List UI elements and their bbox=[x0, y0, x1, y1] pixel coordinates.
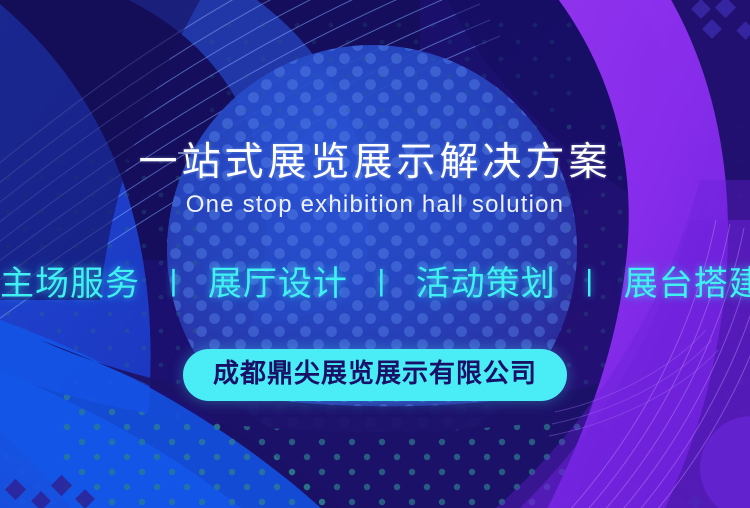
service-separator-3: 丨 bbox=[566, 259, 613, 303]
service-separator-1: 丨 bbox=[150, 259, 197, 303]
service-item-4: 展台搭建 bbox=[624, 256, 750, 305]
service-item-2: 展厅设计 bbox=[208, 256, 348, 305]
promotional-banner: 一站式展览展示解决方案 One stop exhibition hall sol… bbox=[0, 0, 750, 508]
service-item-3: 活动策划 bbox=[416, 256, 556, 305]
service-item-1: 主场服务 bbox=[0, 256, 140, 305]
service-list: 主场服务 丨 展厅设计 丨 活动策划 丨 展台搭建 bbox=[0, 256, 750, 305]
company-name-badge: 成都鼎尖展览展示有限公司 bbox=[183, 349, 567, 401]
service-separator-2: 丨 bbox=[358, 259, 405, 303]
page-title: 一站式展览展示解决方案 bbox=[0, 131, 750, 187]
page-subtitle: One stop exhibition hall solution bbox=[0, 191, 750, 219]
banner-content: 一站式展览展示解决方案 One stop exhibition hall sol… bbox=[0, 0, 750, 508]
